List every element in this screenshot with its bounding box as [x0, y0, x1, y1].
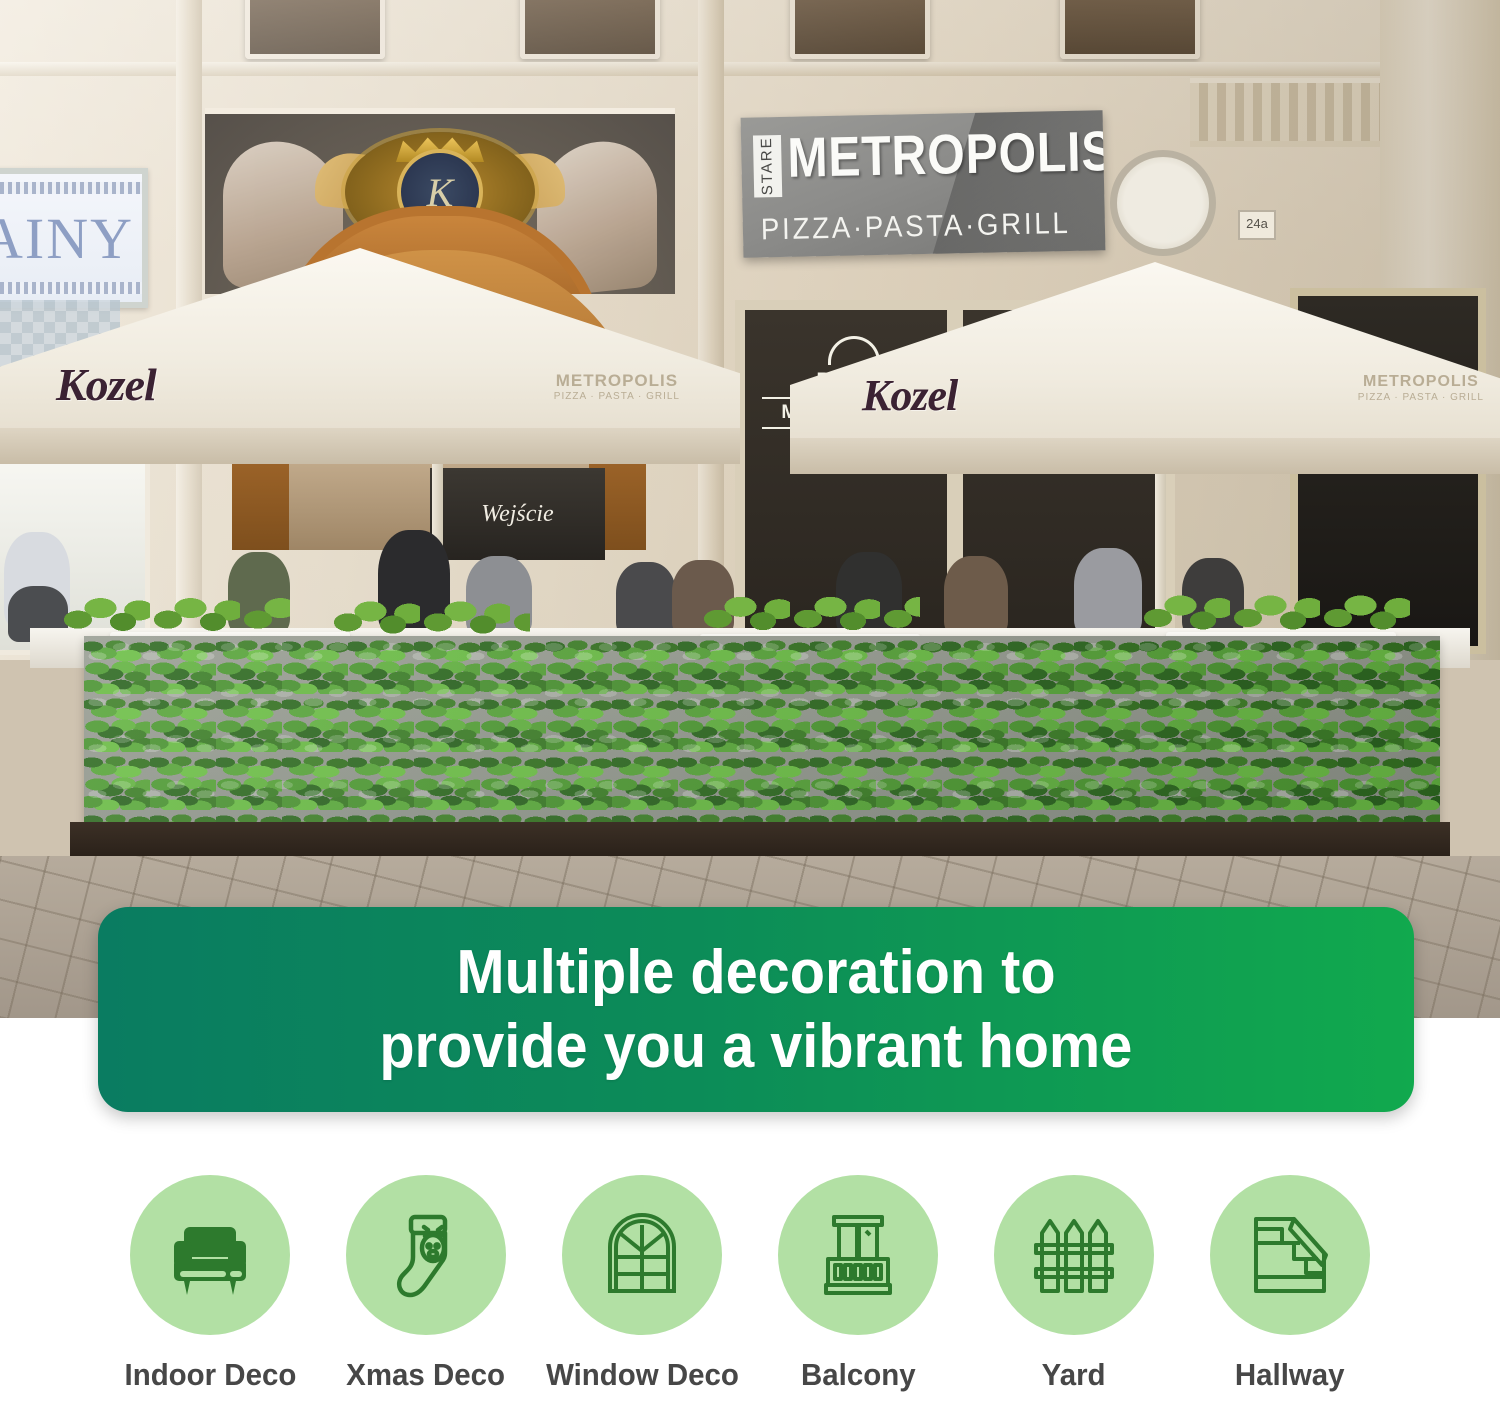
sign-kicker: STARE [753, 135, 782, 198]
headline-line-1: Multiple decoration to [456, 936, 1055, 1009]
feature-hallway[interactable]: Hallway [1182, 1175, 1398, 1393]
entrance-sign: Wejście [430, 468, 605, 560]
balcony-railing-icon [810, 1207, 906, 1303]
umbrella-valance-text: METROPOLIS PIZZA · PASTA · GRILL [554, 370, 680, 404]
wall-clock [1110, 150, 1216, 256]
guest [1074, 548, 1142, 636]
arched-window-icon [594, 1207, 690, 1303]
headline-line-2: provide you a vibrant home [380, 1010, 1133, 1083]
icon-circle [346, 1175, 506, 1335]
valance-title: METROPOLIS [1358, 372, 1484, 392]
umbrella-canopy: Kozel METROPOLIS PIZZA · PASTA · GRILL [0, 248, 740, 464]
artificial-ivy-privacy-screen [84, 636, 1440, 828]
christmas-stocking-icon [378, 1207, 474, 1303]
sofa-icon [162, 1207, 258, 1303]
planter-foliage [700, 590, 920, 638]
staircase-icon [1242, 1207, 1338, 1303]
sign-border-top [0, 182, 142, 194]
valance-sub: PIZZA · PASTA · GRILL [1358, 392, 1484, 405]
planter-foliage [1140, 588, 1410, 638]
guest [616, 562, 676, 636]
feature-label: Xmas Deco [347, 1357, 506, 1393]
feature-xmas-deco[interactable]: Xmas Deco [318, 1175, 534, 1393]
feature-yard[interactable]: Yard [966, 1175, 1182, 1393]
valance-title: METROPOLIS [554, 370, 680, 391]
feature-indoor-deco[interactable]: Indoor Deco [102, 1175, 318, 1393]
feature-label: Yard [1042, 1357, 1106, 1393]
icon-circle [130, 1175, 290, 1335]
icon-circle [1210, 1175, 1370, 1335]
umbrella-brand: Kozel [862, 370, 957, 421]
icon-circle [562, 1175, 722, 1335]
icon-circle [778, 1175, 938, 1335]
feature-label: Hallway [1235, 1357, 1345, 1393]
planter-foliage [330, 596, 530, 640]
product-lifestyle-photo: K RAINY STARE METROPOLIS PIZZA·PASTA·GRI… [0, 0, 1500, 1018]
sign-subtitle: PIZZA·PASTA·GRILL [761, 207, 1071, 247]
guest [944, 556, 1008, 636]
metropolis-restaurant-sign: STARE METROPOLIS PIZZA·PASTA·GRILL [741, 110, 1106, 258]
use-case-icon-row: Indoor Deco Xmas Deco [0, 1175, 1500, 1415]
headline-banner: Multiple decoration to provide you a vib… [98, 907, 1414, 1112]
umbrella-brand: Kozel [56, 358, 156, 411]
icon-circle [994, 1175, 1154, 1335]
feature-window-deco[interactable]: Window Deco [534, 1175, 750, 1393]
patio-umbrella-right: Kozel METROPOLIS PIZZA · PASTA · GRILL [790, 262, 1500, 474]
umbrella-canopy: Kozel METROPOLIS PIZZA · PASTA · GRILL [790, 262, 1500, 474]
valance-sub: PIZZA · PASTA · GRILL [554, 391, 680, 404]
feature-balcony[interactable]: Balcony [750, 1175, 966, 1393]
feature-label: Window Deco [546, 1357, 739, 1393]
feature-label: Indoor Deco [124, 1357, 296, 1393]
picket-fence-icon [1026, 1207, 1122, 1303]
feature-label: Balcony [801, 1357, 916, 1393]
umbrella-valance-text: METROPOLIS PIZZA · PASTA · GRILL [1358, 372, 1484, 405]
sign-title: METROPOLIS [787, 118, 1106, 190]
street-number-plate: 24a [1238, 210, 1276, 240]
patio-umbrella-left: Kozel METROPOLIS PIZZA · PASTA · GRILL [0, 248, 740, 464]
